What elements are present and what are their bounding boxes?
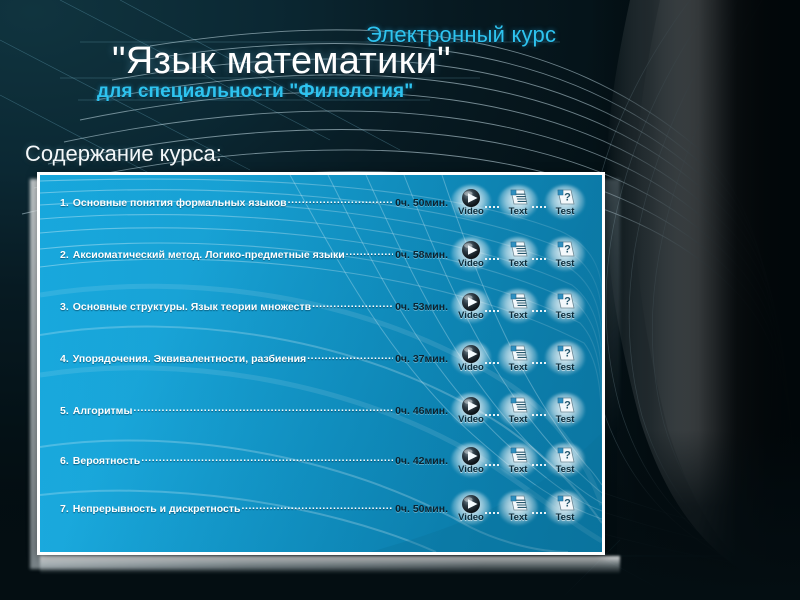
leader-dots xyxy=(346,247,393,258)
test-question-icon: ? xyxy=(554,188,576,208)
content-row-text: 7. Непрерывность и дискретность 0ч. 50ми… xyxy=(60,501,448,515)
video-button[interactable]: Video xyxy=(454,341,488,375)
content-row-icons: Video Text xyxy=(454,491,582,525)
test-button[interactable]: ? Test xyxy=(548,443,582,477)
content-row[interactable]: 1. Основные понятия формальных языков 0ч… xyxy=(40,185,602,219)
video-play-icon xyxy=(460,344,482,364)
text-label: Text xyxy=(509,311,528,321)
text-document-icon xyxy=(507,188,529,208)
test-question-icon: ? xyxy=(554,446,576,466)
test-label: Test xyxy=(556,311,575,321)
content-row-title: Вероятность xyxy=(69,455,140,467)
slide-canvas: Электронный курс "Язык математики" для с… xyxy=(0,0,800,600)
test-label: Test xyxy=(556,513,575,523)
content-row[interactable]: 4. Упорядочения. Эквивалентности, разбие… xyxy=(40,341,602,375)
test-button[interactable]: ? Test xyxy=(548,185,582,219)
video-label: Video xyxy=(458,259,484,269)
text-button[interactable]: Text xyxy=(501,443,535,477)
video-play-icon xyxy=(460,494,482,514)
test-button[interactable]: ? Test xyxy=(548,393,582,427)
test-question-icon: ? xyxy=(554,344,576,364)
text-label: Text xyxy=(509,415,528,425)
text-button[interactable]: Text xyxy=(501,185,535,219)
leader-dots xyxy=(242,501,394,512)
content-row-icons: Video Text xyxy=(454,185,582,219)
content-row[interactable]: 7. Непрерывность и дискретность 0ч. 50ми… xyxy=(40,491,602,525)
video-label: Video xyxy=(458,513,484,523)
test-question-icon: ? xyxy=(554,494,576,514)
video-play-icon xyxy=(460,240,482,260)
test-label: Test xyxy=(556,415,575,425)
test-button[interactable]: ? Test xyxy=(548,289,582,323)
content-row-icons: Video Text xyxy=(454,289,582,323)
svg-text:?: ? xyxy=(564,295,571,307)
text-document-icon xyxy=(507,292,529,312)
panel-reflection xyxy=(40,556,620,574)
leader-dots xyxy=(312,299,393,310)
content-row-duration: 0ч. 37мин. xyxy=(394,353,448,365)
content-row-title: Аксиоматический метод. Логико-предметные… xyxy=(69,249,345,261)
leader-dots xyxy=(307,351,393,362)
content-row-text: 4. Упорядочения. Эквивалентности, разбие… xyxy=(60,351,448,365)
test-label: Test xyxy=(556,465,575,475)
video-button[interactable]: Video xyxy=(454,393,488,427)
contents-rows: 1. Основные понятия формальных языков 0ч… xyxy=(40,175,602,552)
content-row[interactable]: 3. Основные структуры. Язык теории множе… xyxy=(40,289,602,323)
leader-dots xyxy=(141,453,393,464)
content-row-text: 5. Алгоритмы 0ч. 46мин. xyxy=(60,403,448,417)
content-row-title: Основные понятия формальных языков xyxy=(69,197,287,209)
content-row-title: Упорядочения. Эквивалентности, разбиения xyxy=(69,353,306,365)
content-row-duration: 0ч. 46мин. xyxy=(394,405,448,417)
content-row-duration: 0ч. 50мин. xyxy=(394,503,448,515)
content-row-text: 6. Вероятность 0ч. 42мин. xyxy=(60,453,448,467)
content-row-icons: Video Text xyxy=(454,393,582,427)
content-row-duration: 0ч. 50мин. xyxy=(394,197,448,209)
content-row-title: Непрерывность и дискретность xyxy=(69,503,241,515)
video-button[interactable]: Video xyxy=(454,185,488,219)
test-button[interactable]: ? Test xyxy=(548,237,582,271)
content-row-icons: Video Text xyxy=(454,341,582,375)
text-document-icon xyxy=(507,344,529,364)
text-document-icon xyxy=(507,494,529,514)
content-row-number: 1. xyxy=(60,197,69,209)
video-label: Video xyxy=(458,465,484,475)
test-label: Test xyxy=(556,207,575,217)
text-document-icon xyxy=(507,446,529,466)
content-row-text: 3. Основные структуры. Язык теории множе… xyxy=(60,299,448,313)
svg-text:?: ? xyxy=(564,497,571,509)
video-play-icon xyxy=(460,396,482,416)
test-question-icon: ? xyxy=(554,396,576,416)
svg-text:?: ? xyxy=(564,347,571,359)
text-button[interactable]: Text xyxy=(501,289,535,323)
course-contents-panel: 1. Основные понятия формальных языков 0ч… xyxy=(37,172,605,555)
video-label: Video xyxy=(458,363,484,373)
content-row-text: 1. Основные понятия формальных языков 0ч… xyxy=(60,195,448,209)
text-button[interactable]: Text xyxy=(501,237,535,271)
text-label: Text xyxy=(509,465,528,475)
video-play-icon xyxy=(460,446,482,466)
text-label: Text xyxy=(509,259,528,269)
content-row-title: Алгоритмы xyxy=(69,405,133,417)
text-document-icon xyxy=(507,396,529,416)
test-question-icon: ? xyxy=(554,240,576,260)
svg-text:?: ? xyxy=(564,191,571,203)
video-play-icon xyxy=(460,292,482,312)
content-row-number: 6. xyxy=(60,455,69,467)
page-title: "Язык математики" xyxy=(112,40,451,83)
content-row-duration: 0ч. 58мин. xyxy=(394,249,448,261)
video-button[interactable]: Video xyxy=(454,491,488,525)
content-row[interactable]: 2. Аксиоматический метод. Логико-предмет… xyxy=(40,237,602,271)
text-label: Text xyxy=(509,513,528,523)
svg-text:?: ? xyxy=(564,243,571,255)
section-label: Содержание курса: xyxy=(25,141,222,167)
text-button[interactable]: Text xyxy=(501,341,535,375)
text-label: Text xyxy=(509,207,528,217)
video-label: Video xyxy=(458,207,484,217)
text-label: Text xyxy=(509,363,528,373)
content-row-text: 2. Аксиоматический метод. Логико-предмет… xyxy=(60,247,448,261)
content-row-duration: 0ч. 53мин. xyxy=(394,301,448,313)
video-button[interactable]: Video xyxy=(454,237,488,271)
content-row-icons: Video Text xyxy=(454,237,582,271)
test-label: Test xyxy=(556,259,575,269)
video-play-icon xyxy=(460,188,482,208)
leader-dots xyxy=(133,403,393,414)
header-subtitle: для специальности "Филология" xyxy=(97,81,413,103)
content-row-number: 2. xyxy=(60,249,69,261)
svg-text:?: ? xyxy=(564,399,571,411)
text-button[interactable]: Text xyxy=(501,393,535,427)
content-row-icons: Video Text xyxy=(454,443,582,477)
video-label: Video xyxy=(458,311,484,321)
video-button[interactable]: Video xyxy=(454,289,488,323)
video-button[interactable]: Video xyxy=(454,443,488,477)
video-label: Video xyxy=(458,415,484,425)
content-row-duration: 0ч. 42мин. xyxy=(394,455,448,467)
content-row-number: 3. xyxy=(60,301,69,313)
text-document-icon xyxy=(507,240,529,260)
content-row[interactable]: 6. Вероятность 0ч. 42мин. Video xyxy=(40,443,602,477)
content-row-number: 5. xyxy=(60,405,69,417)
test-question-icon: ? xyxy=(554,292,576,312)
text-button[interactable]: Text xyxy=(501,491,535,525)
leader-dots xyxy=(288,195,393,206)
svg-text:?: ? xyxy=(564,449,571,461)
test-button[interactable]: ? Test xyxy=(548,491,582,525)
content-row[interactable]: 5. Алгоритмы 0ч. 46мин. Video xyxy=(40,393,602,427)
test-label: Test xyxy=(556,363,575,373)
content-row-number: 7. xyxy=(60,503,69,515)
content-row-title: Основные структуры. Язык теории множеств xyxy=(69,301,311,313)
content-row-number: 4. xyxy=(60,353,69,365)
test-button[interactable]: ? Test xyxy=(548,341,582,375)
